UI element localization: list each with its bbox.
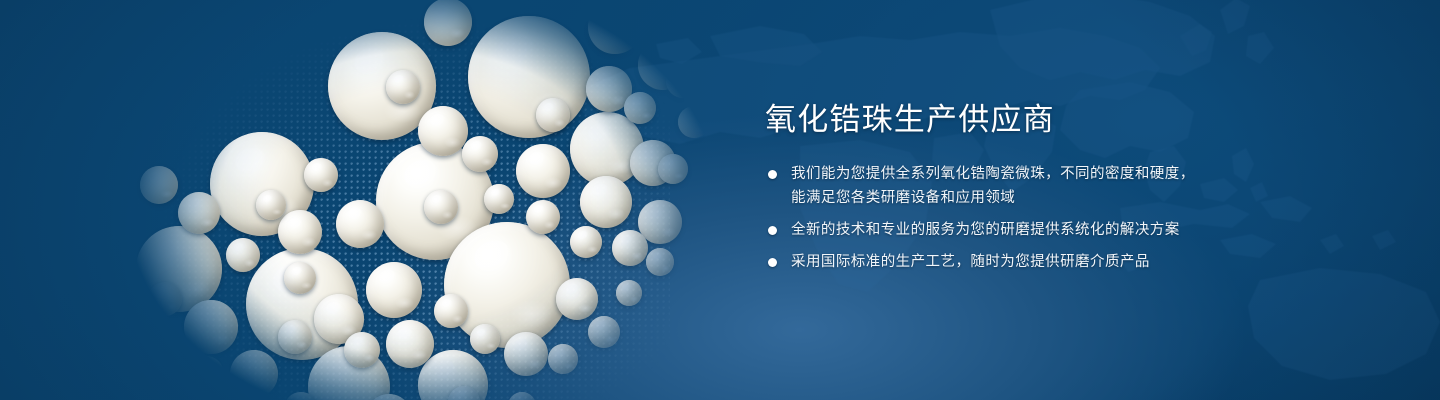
feature-list: 我们能为您提供全系列氧化锆陶瓷微珠，不同的密度和硬度， 能满足您各类研磨设备和应…: [765, 163, 1235, 274]
bullet-dot-icon: [768, 258, 777, 267]
list-item: 我们能为您提供全系列氧化锆陶瓷微珠，不同的密度和硬度， 能满足您各类研磨设备和应…: [765, 163, 1235, 210]
list-item-line: 采用国际标准的生产工艺，随时为您提供研磨介质产品: [791, 251, 1235, 274]
hero-banner: 氧化锆珠生产供应商 我们能为您提供全系列氧化锆陶瓷微珠，不同的密度和硬度， 能满…: [0, 0, 1440, 400]
list-item: 全新的技术和专业的服务为您的研磨提供系统化的解决方案: [765, 219, 1235, 242]
list-item-line: 能满足您各类研磨设备和应用领域: [791, 187, 1235, 210]
list-item-line: 我们能为您提供全系列氧化锆陶瓷微珠，不同的密度和硬度，: [791, 163, 1235, 186]
bullet-dot-icon: [768, 170, 777, 179]
banner-copy: 氧化锆珠生产供应商 我们能为您提供全系列氧化锆陶瓷微珠，不同的密度和硬度， 能满…: [765, 104, 1235, 274]
list-item: 采用国际标准的生产工艺，随时为您提供研磨介质产品: [765, 251, 1235, 274]
bullet-dot-icon: [768, 226, 777, 235]
list-item-line: 全新的技术和专业的服务为您的研磨提供系统化的解决方案: [791, 219, 1235, 242]
page-title: 氧化锆珠生产供应商: [765, 104, 1235, 137]
